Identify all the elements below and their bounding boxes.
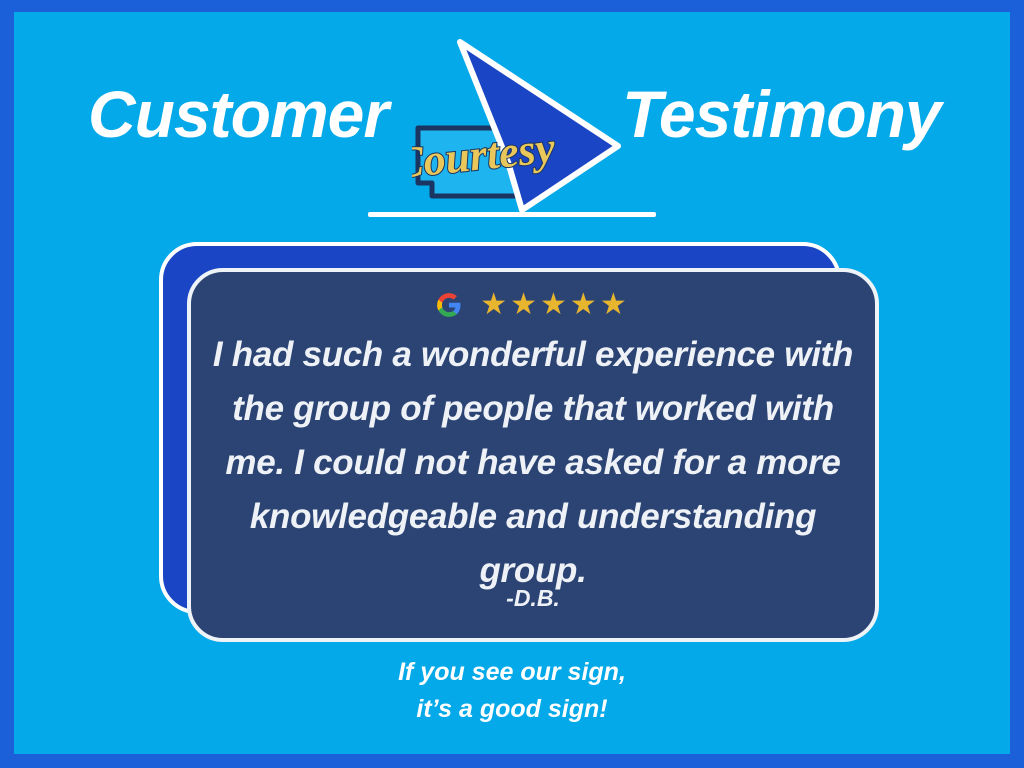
footer-tagline-line1: If you see our sign,: [14, 654, 1010, 691]
testimonial-slide: Customer Courtesy Testimony: [0, 0, 1024, 768]
footer-tagline: If you see our sign, it’s a good sign!: [14, 654, 1010, 728]
testimonial-card: ★★★★★ I had such a wonderful experience …: [187, 268, 879, 642]
testimonial-quote: I had such a wonderful experience with t…: [211, 328, 855, 598]
title-divider: [368, 212, 656, 217]
testimonial-attribution: -D.B.: [191, 585, 875, 612]
slide-canvas: Customer Courtesy Testimony: [14, 12, 1010, 754]
rating-row: ★★★★★: [191, 290, 875, 320]
logo-svg: Courtesy: [412, 24, 632, 214]
slide-header: Customer Courtesy Testimony: [14, 64, 1010, 174]
page-title-right: Testimony: [622, 64, 941, 164]
testimonial-card-group: ★★★★★ I had such a wonderful experience …: [159, 242, 879, 642]
courtesy-arrow-logo: Courtesy: [412, 24, 632, 214]
page-title-left: Customer: [88, 64, 388, 164]
footer-tagline-line2: it’s a good sign!: [14, 691, 1010, 728]
google-icon: [436, 292, 462, 318]
star-rating: ★★★★★: [480, 290, 629, 320]
